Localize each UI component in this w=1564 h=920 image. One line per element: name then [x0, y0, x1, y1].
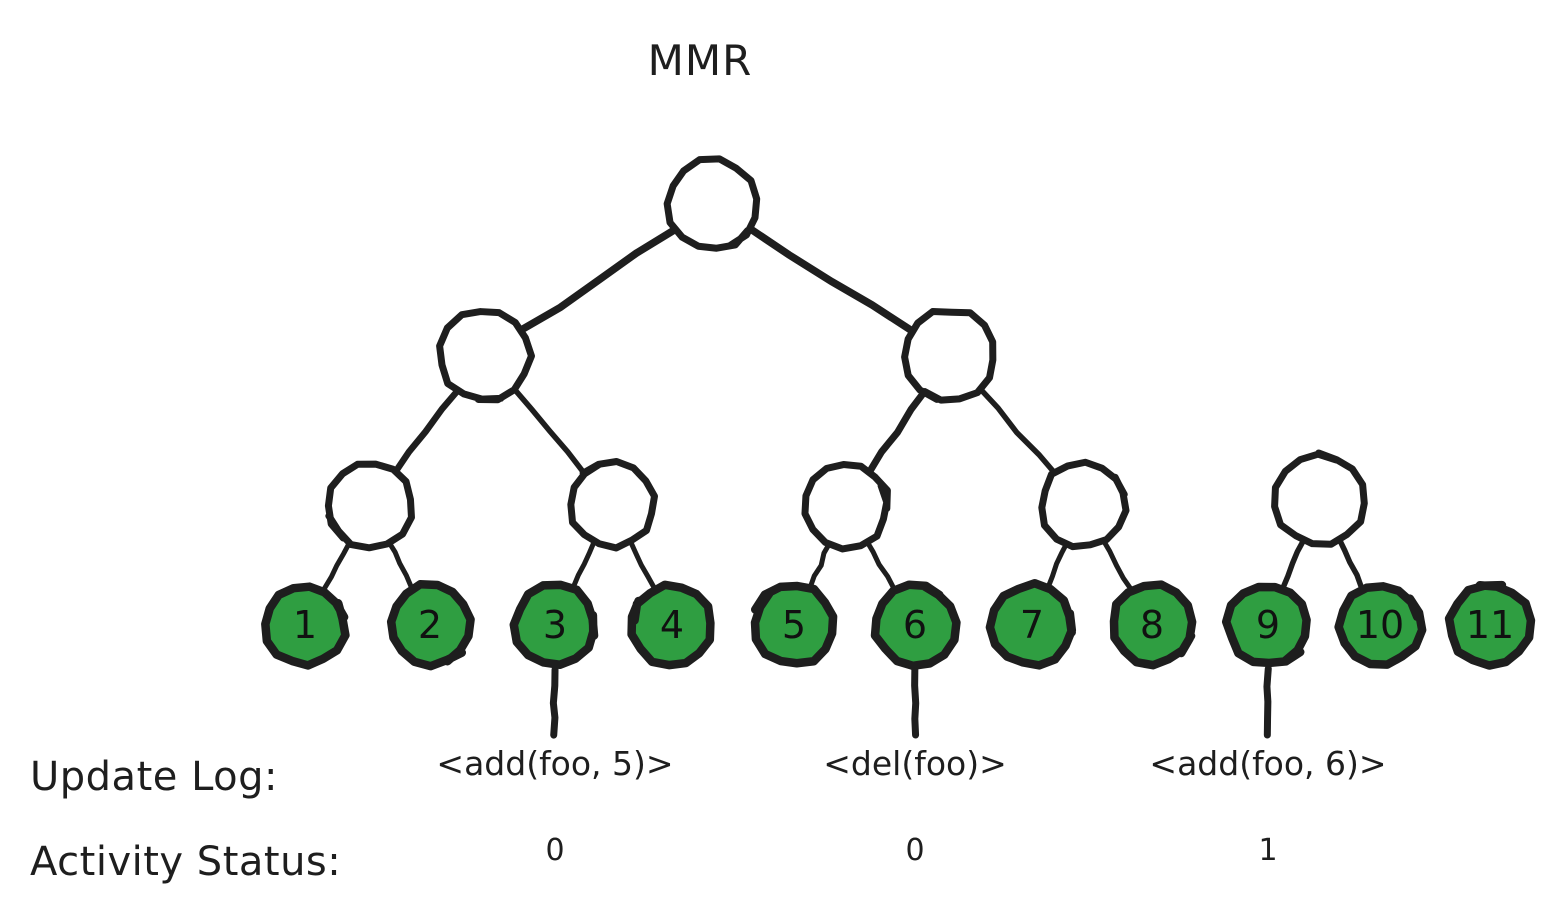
log-stem	[1267, 669, 1268, 735]
tree-edge	[512, 387, 586, 476]
activity-status-value: 1	[1258, 833, 1277, 868]
leaf-node-1[interactable]: 1	[265, 586, 345, 665]
leaf-label: 11	[1466, 603, 1514, 647]
log-stems	[553, 669, 1268, 735]
internal-node	[1041, 462, 1126, 547]
leaf-label: 5	[782, 603, 806, 647]
leaf-label: 7	[1020, 603, 1044, 647]
update-log-entries: <add(foo, 5)><del(foo)><add(foo, 6)>	[436, 744, 1386, 783]
leaf-edge	[810, 542, 830, 587]
activity-status-entries: 001	[545, 833, 1277, 868]
leaf-node-6[interactable]: 6	[875, 585, 956, 666]
activity-status-value: 0	[545, 833, 564, 868]
leaf-node-8[interactable]: 8	[1113, 585, 1192, 666]
leaf-node-3[interactable]: 3	[514, 585, 594, 665]
tree-edge	[748, 227, 914, 332]
tree-edge	[978, 386, 1057, 475]
internal-node	[804, 463, 888, 549]
leaf-nodes-group: 1234567891011	[265, 583, 1531, 666]
leaf-edge	[1339, 539, 1362, 589]
tree-edge	[519, 229, 676, 331]
leaf-edge	[630, 541, 654, 588]
leaf-edge	[866, 539, 894, 589]
internal-node	[905, 310, 995, 400]
leaf-label: 9	[1256, 603, 1280, 647]
internal-node	[1275, 453, 1365, 545]
page-title: MMR	[648, 36, 753, 85]
log-stem	[553, 670, 555, 736]
leaf-edge	[1103, 540, 1132, 590]
internal-nodes-group	[328, 159, 1365, 549]
leaf-label: 2	[418, 603, 442, 647]
leaf-node-5[interactable]: 5	[755, 586, 833, 664]
tree-edge	[394, 388, 460, 474]
log-stem	[915, 669, 916, 735]
leaf-node-11[interactable]: 11	[1449, 585, 1531, 665]
leaf-node-4[interactable]: 4	[632, 585, 711, 665]
leaf-label: 4	[660, 603, 684, 647]
tree-edge	[868, 390, 926, 474]
leaf-label: 10	[1356, 603, 1404, 647]
mmr-diagram: MMR 1234567891011 Update Log: Activity S…	[0, 0, 1564, 920]
activity-status-value: 0	[905, 833, 924, 868]
update-log-entry: <add(foo, 5)>	[436, 744, 673, 783]
leaf-edge	[324, 541, 350, 589]
leaf-edge	[1048, 542, 1067, 587]
leaf-edge	[1283, 540, 1304, 588]
leaf-node-7[interactable]: 7	[990, 583, 1072, 665]
leaf-edge	[388, 541, 412, 589]
leaf-node-10[interactable]: 10	[1339, 586, 1423, 665]
diagram-canvas: MMR 1234567891011 Update Log: Activity S…	[0, 0, 1564, 920]
leaf-label: 8	[1140, 603, 1164, 647]
internal-node	[667, 159, 757, 250]
internal-node	[328, 463, 412, 548]
leaf-label: 3	[543, 603, 567, 647]
leaf-label: 6	[903, 603, 927, 647]
leaf-node-9[interactable]: 9	[1226, 586, 1307, 664]
activity-status-label: Activity Status:	[30, 839, 341, 885]
update-log-entry: <del(foo)>	[823, 744, 1006, 783]
leaf-node-2[interactable]: 2	[391, 584, 471, 666]
update-log-entry: <add(foo, 6)>	[1149, 744, 1386, 783]
internal-node	[570, 462, 654, 548]
update-log-label: Update Log:	[30, 754, 278, 800]
leaf-label: 1	[293, 603, 317, 647]
internal-node	[440, 310, 532, 400]
leaf-edge	[573, 541, 594, 588]
